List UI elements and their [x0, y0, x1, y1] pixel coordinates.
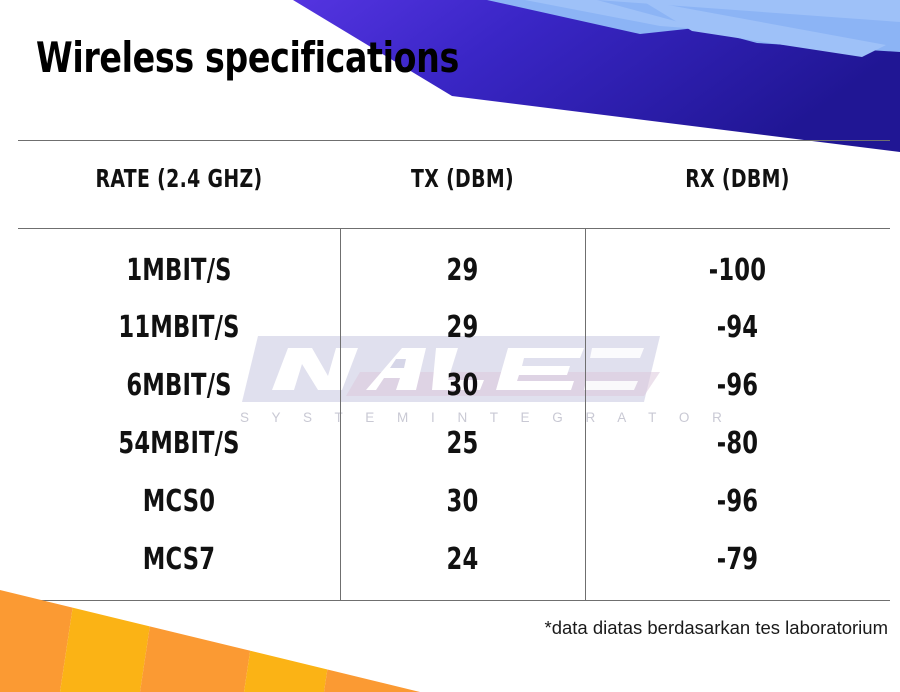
orange-stripe-4: [244, 572, 342, 692]
watermark-tagline: S Y S T E M I N T E G R A T O R: [240, 410, 660, 425]
cell-rate: MCS7: [44, 542, 314, 582]
decoration-bottom-svg: [0, 572, 460, 692]
slide-canvas: Wireless specifications S Y S T E M I N …: [0, 0, 900, 692]
arrow-shape-3: [597, 0, 900, 52]
cell-tx: 25: [360, 426, 566, 466]
page-title: Wireless specifications: [36, 33, 459, 82]
arrow-shape-2: [525, 0, 900, 37]
bottom-left-decoration: [0, 572, 460, 692]
cell-rate: 6MBIT/S: [44, 368, 314, 408]
cell-tx: 30: [360, 484, 566, 524]
column-header-rx: RX (DBM): [609, 164, 865, 193]
table-header-row: RATE (2.4 GHZ) TX (DBM) RX (DBM): [18, 164, 890, 193]
table-row: 1MBIT/S 29 -100: [18, 253, 890, 293]
cell-tx: 29: [360, 310, 566, 350]
cell-rx: -79: [609, 542, 865, 582]
cell-rx: -96: [609, 484, 865, 524]
table-footnote: *data diatas berdasarkan tes laboratoriu…: [545, 617, 888, 639]
orange-stripe-3: [140, 572, 262, 692]
table-row: MCS7 24 -79: [18, 542, 890, 582]
table-rule-header: [18, 228, 890, 229]
cell-rx: -96: [609, 368, 865, 408]
arrow-shape-4: [641, 0, 886, 57]
watermark-letter-a-hole: [390, 359, 406, 368]
table-row: 54MBIT/S 25 -80: [18, 426, 890, 466]
cell-rx: -80: [609, 426, 865, 466]
cell-rate: MCS0: [44, 484, 314, 524]
table-rule-top: [18, 140, 890, 141]
cell-rx: -100: [609, 253, 865, 293]
decoration-top-svg: [0, 0, 900, 170]
cell-rate: 54MBIT/S: [44, 426, 314, 466]
table-row: 6MBIT/S 30 -96: [18, 368, 890, 408]
orange-stripe-2: [60, 572, 158, 692]
table-row: MCS0 30 -96: [18, 484, 890, 524]
cell-rate: 11MBIT/S: [44, 310, 314, 350]
cell-rx: -94: [609, 310, 865, 350]
cell-tx: 30: [360, 368, 566, 408]
orange-wedge: [0, 572, 460, 692]
orange-stripe-1: [0, 572, 78, 692]
cell-rate: 1MBIT/S: [44, 253, 314, 293]
table-row: 11MBIT/S 29 -94: [18, 310, 890, 350]
top-right-decoration: [0, 0, 900, 170]
cell-tx: 24: [360, 542, 566, 582]
column-header-tx: TX (DBM): [360, 164, 566, 193]
orange-stripe-5: [324, 572, 460, 692]
column-header-rate: RATE (2.4 GHZ): [44, 164, 314, 193]
table-rule-bottom: [18, 600, 890, 601]
cell-tx: 29: [360, 253, 566, 293]
arrow-shape-1: [487, 0, 900, 34]
